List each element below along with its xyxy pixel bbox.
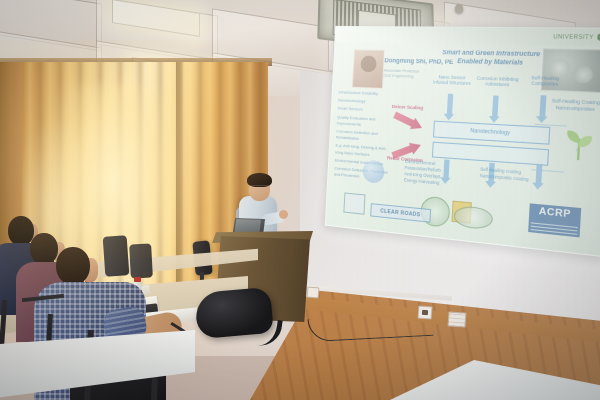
red-arrow-icon	[392, 109, 425, 134]
wall-outlet[interactable]	[447, 311, 466, 327]
down-arrow-icon	[447, 94, 453, 115]
sub-bullet-list-left: Electrochemical Passivation/Refurb Anti-…	[404, 159, 466, 189]
bullet-item: E.g. Anti-icing, Deicing & Anti-Icing Na…	[335, 143, 390, 159]
cavese-logo	[453, 205, 493, 230]
glasses-icon	[251, 185, 269, 190]
wall-outlet[interactable]	[307, 287, 320, 299]
presenter-hand	[279, 210, 288, 219]
audience-member-3-head	[56, 247, 90, 285]
clear-roads-label: CLEAR ROADS	[380, 208, 420, 218]
diagram-label: Nano Sensor Infused Structures	[432, 74, 473, 87]
right-diagram-label: Self-Healing Coating Nanocomposites	[549, 98, 600, 113]
slide-presenter-affiliation: Associate Professor Civil Engineering	[383, 67, 428, 79]
slide-header: UNIVERSITY	[335, 27, 600, 46]
slide-title: Smart and Green Infrastructure Enabled b…	[431, 49, 553, 69]
laptop-screen	[233, 219, 261, 232]
audience-member-2-head	[30, 233, 58, 265]
projection-screen: UNIVERSITY Dongming Shi, PhD, PE Associa…	[325, 26, 600, 257]
bottle-cap	[134, 277, 141, 282]
sprinkler-icon	[455, 4, 463, 13]
bullet-item: Infrastructure Durability	[338, 89, 393, 98]
sponsor-badge-logo	[343, 192, 365, 214]
acrp-label: ACRP	[539, 205, 572, 219]
office-chair[interactable]	[129, 243, 153, 278]
diagram-label: Self-Healing Composites	[523, 75, 568, 88]
down-arrow-icon	[539, 95, 546, 118]
conference-room-photo: UNIVERSITY Dongming Shi, PhD, PE Associa…	[0, 0, 600, 400]
office-chair[interactable]	[103, 235, 130, 277]
down-arrow-icon	[492, 95, 499, 117]
presenter-headshot	[352, 49, 385, 89]
university-name: UNIVERSITY	[553, 33, 594, 40]
bullet-item: Nanotechnology	[338, 98, 392, 107]
bullet-item: Corrosion Detection and Rehabilitation	[336, 128, 391, 144]
bullet-item: Quality Evaluation and Improvements	[337, 114, 392, 130]
diagram-label: Corrosion Inhibiting Admixtures	[476, 75, 519, 88]
plant-sprout-icon	[563, 128, 596, 162]
nanotechnology-box: Nanotechnology	[433, 121, 550, 145]
nanotechnology-label: Nanotechnology	[470, 128, 510, 137]
acrp-logo: ACRP	[528, 203, 581, 237]
red-label: Deicer Scaling	[392, 104, 424, 111]
